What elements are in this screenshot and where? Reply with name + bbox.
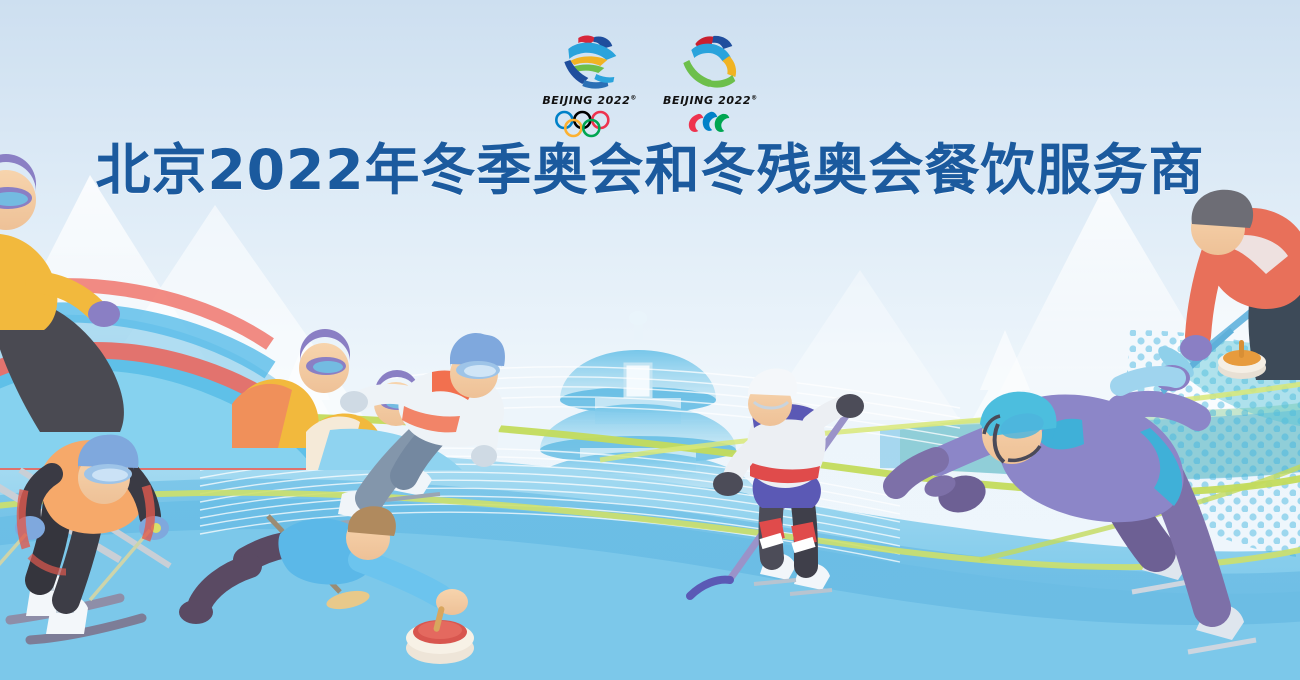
beijing-2022-paralympic-emblem-icon — [671, 30, 749, 92]
olympic-emblem: BEIJING 2022® — [542, 30, 637, 138]
olympic-wordmark: BEIJING 2022® — [542, 94, 637, 107]
paralympic-emblem: BEIJING 2022® — [663, 30, 758, 135]
athlete-speed-skater — [896, 392, 1256, 652]
emblem-group: BEIJING 2022® — [542, 30, 757, 138]
paralympic-agitos-icon — [684, 111, 736, 135]
olympic-rings-icon — [554, 110, 626, 138]
olympic-banner: BEIJING 2022® — [0, 0, 1300, 680]
beijing-2022-winter-emblem-icon — [551, 30, 629, 92]
curling-stone — [406, 606, 474, 664]
paralympic-wordmark: BEIJING 2022® — [663, 94, 758, 107]
athlete-ice-hockey-player — [690, 368, 864, 596]
athlete-curler-delivery — [179, 506, 474, 664]
page-title: 北京2022年冬季奥会和冬残奥会餐饮服务商 — [0, 143, 1300, 198]
athlete-curler-sweeper — [1120, 190, 1300, 392]
